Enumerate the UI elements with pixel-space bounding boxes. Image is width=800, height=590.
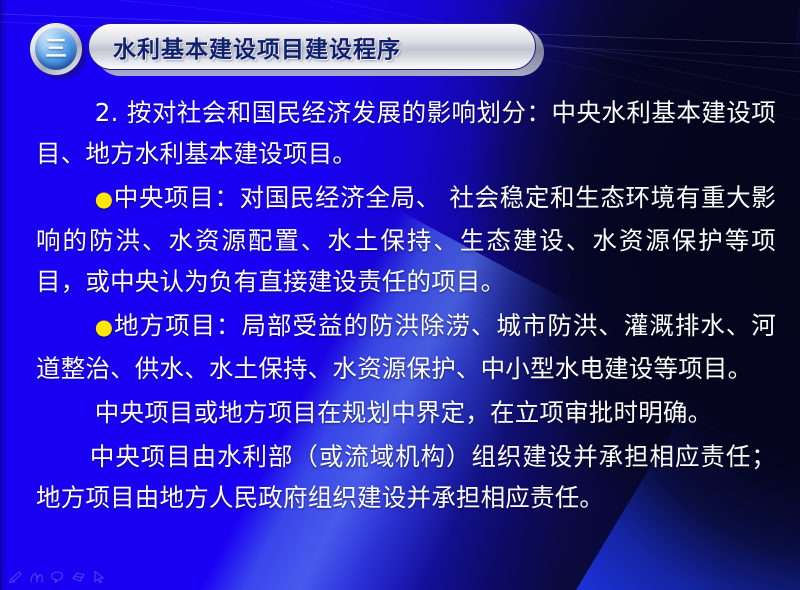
marker-icon[interactable] — [29, 570, 44, 584]
title-pill: 水利基本建设项目建设程序 — [88, 23, 536, 70]
paragraph-text: 地方项目：局部受益的防洪除涝、城市防洪、灌溉排水、河道整治、供水、水土保持、水资… — [36, 311, 776, 383]
paragraph-text: 中央项目或地方项目在规划中界定，在立项审批时明确。 — [95, 398, 713, 427]
pointer-icon[interactable] — [50, 570, 65, 584]
body-paragraph-4: 中央项目或地方项目在规划中界定，在立项审批时明确。 — [36, 392, 776, 433]
presentation-slide: 水利基本建设项目建设程序 三 2. 按对社会和国民经济发展的影响划分：中央水利基… — [0, 0, 800, 590]
slide-body: 2. 按对社会和国民经济发展的影响划分：中央水利基本建设项目、地方水利基本建设项… — [36, 92, 776, 521]
eraser-icon[interactable] — [71, 570, 86, 584]
section-number-glyph: 三 — [45, 38, 67, 60]
body-paragraph-2: ●中央项目：对国民经济全局、 社会稳定和生态环境有重大影响的防洪、水资源配置、水… — [36, 177, 776, 302]
bullet-marker-local: ● — [95, 315, 114, 339]
page-title: 水利基本建设项目建设程序 — [113, 30, 401, 64]
body-paragraph-3: ●地方项目：局部受益的防洪除涝、城市防洪、灌溉排水、河道整治、供水、水土保持、水… — [36, 305, 776, 389]
section-badge: 三 — [35, 28, 77, 70]
arrow-cursor-icon[interactable] — [92, 570, 107, 584]
paragraph-text: 中央项目：对国民经济全局、 社会稳定和生态环境有重大影响的防洪、水资源配置、水土… — [36, 183, 776, 296]
body-paragraph-5: 中央项目由水利部（或流域机构）组织建设并承担相应责任；地方项目由地方人民政府组织… — [36, 436, 776, 518]
slide-title-bar: 水利基本建设项目建设程序 三 — [22, 22, 522, 74]
slide-nav-icons[interactable] — [8, 570, 107, 584]
body-paragraph-1: 2. 按对社会和国民经济发展的影响划分：中央水利基本建设项目、地方水利基本建设项… — [36, 92, 776, 174]
pen-icon[interactable] — [8, 570, 23, 584]
paragraph-text: 中央项目由水利部（或流域机构）组织建设并承担相应责任；地方项目由地方人民政府组织… — [36, 442, 776, 512]
bullet-marker-central: ● — [95, 187, 114, 211]
paragraph-text: 2. 按对社会和国民经济发展的影响划分：中央水利基本建设项目、地方水利基本建设项… — [36, 98, 776, 168]
